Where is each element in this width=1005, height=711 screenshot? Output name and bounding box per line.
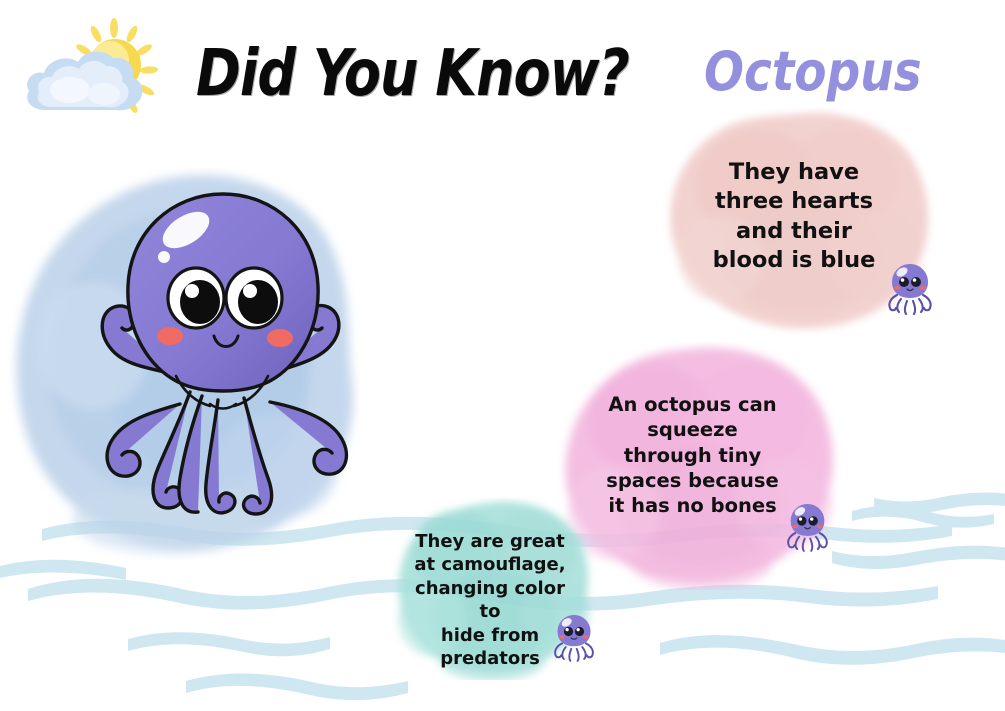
sun-and-cloud-illustration [18, 12, 168, 124]
page-title: Did You Know? [196, 36, 629, 110]
octopus-emoji-icon [785, 501, 830, 552]
octopus-cheek-left [157, 327, 183, 345]
octopus-cheek-right [267, 329, 293, 347]
fact-text-2: An octopus can squeeze through tiny spac… [590, 392, 795, 519]
fact-text-1: They have three hearts and their blood i… [694, 158, 894, 275]
octopus-emoji-icon [552, 612, 596, 662]
cloud-icon [27, 52, 142, 111]
octopus-illustration [78, 178, 368, 518]
fact-text-3: They are great at camouflage, changing c… [406, 530, 574, 670]
octopus-emoji-icon [886, 261, 934, 315]
topic-title: Octopus [704, 40, 922, 104]
poster-canvas: They have three hearts and their blood i… [0, 0, 1005, 711]
